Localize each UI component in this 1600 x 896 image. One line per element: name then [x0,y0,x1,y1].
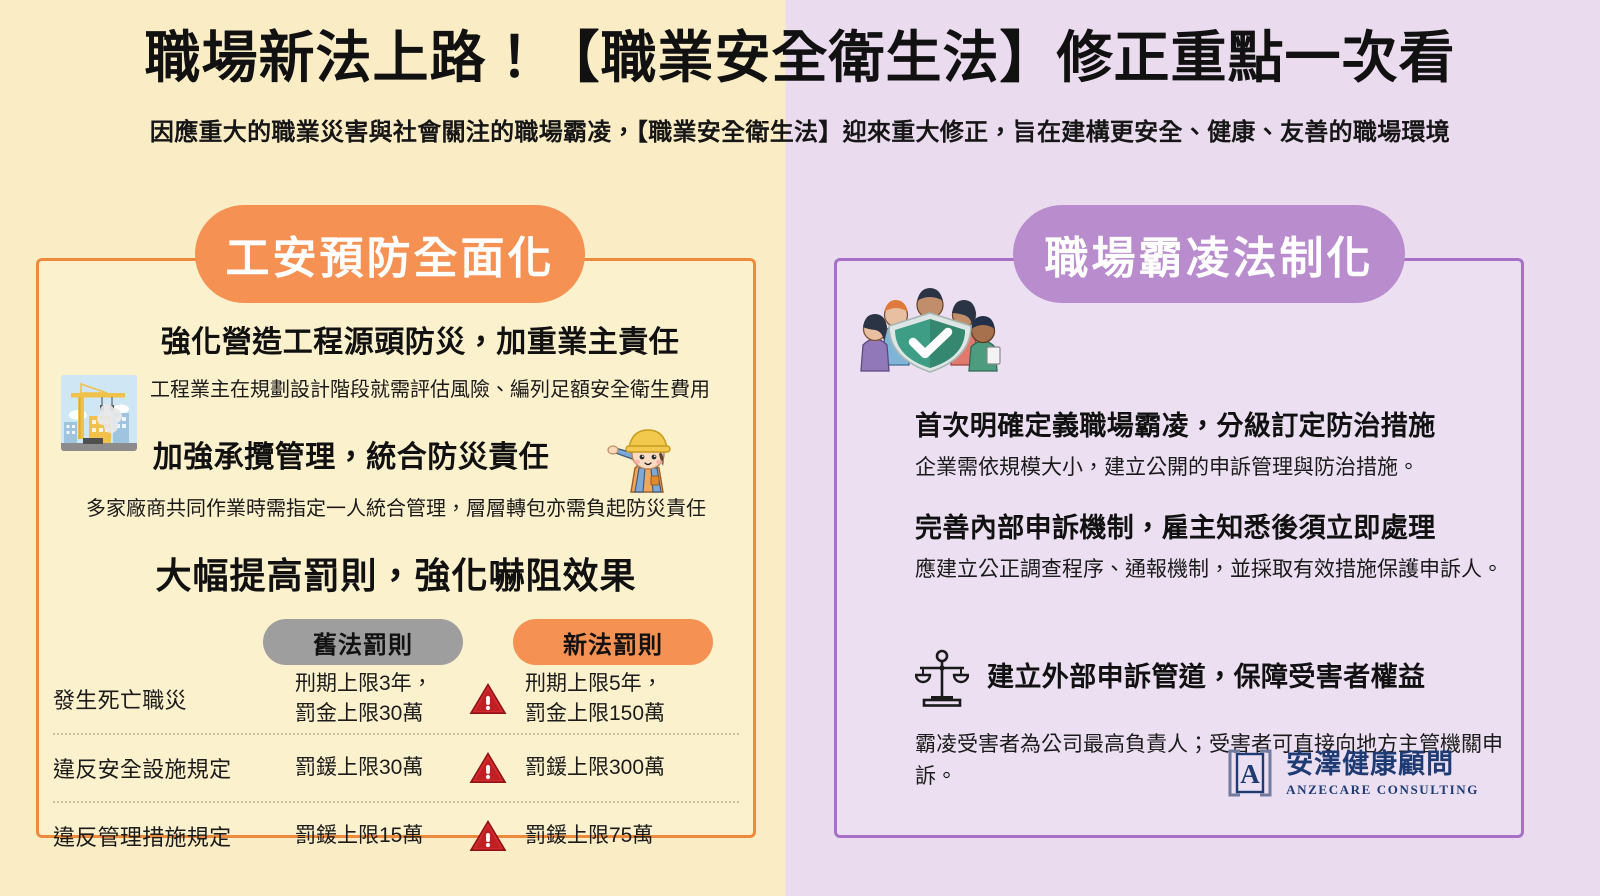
right-block-definition: 首次明確定義職場霸凌，分級訂定防治措施 企業需依規模大小，建立公開的申訴管理與防… [915,409,1515,484]
brand-logo: A 安澤健康顧問 ANZECARE CONSULTING [1224,747,1479,799]
warning-triangle-icon [463,818,513,854]
infographic-poster: 職場新法上路！【職業安全衛生法】修正重點一次看 因應重大的職業災害與社會關注的職… [0,0,1600,896]
penalty-row-1-category: 發生死亡職災 [53,683,263,715]
penalty-row-1-new-line2: 罰金上限150萬 [525,699,733,729]
poster-header: 職場新法上路！【職業安全衛生法】修正重點一次看 因應重大的職業災害與社會關注的職… [0,0,1600,147]
table-row: 違反管理措施規定 罰鍰上限15萬 罰鍰上限75萬 [53,801,739,869]
left-block-contract-management: 加強承攬管理，統合防災責任 多家廠商共同作業時需指定一人統合管理，層層轉包亦需負… [39,432,753,521]
penalty-row-3-old: 罰鍰上限15萬 [263,821,463,851]
logo-name-cn: 安澤健康顧問 [1286,751,1479,778]
right-block-3-heading: 建立外部申訴管道，保障受害者權益 [987,660,1425,695]
left-block-1-description: 工程業主在規劃設計階段就需評估風險、編列足額安全衛生費用 [49,373,741,402]
right-block-1-description: 企業需依規模大小，建立公開的申訴管理與防治措施。 [915,452,1515,484]
right-block-1-heading: 首次明確定義職場霸凌，分級訂定防治措施 [915,409,1515,444]
right-panel-content: 首次明確定義職場霸凌，分級訂定防治措施 企業需依規模大小，建立公開的申訴管理與防… [837,261,1521,835]
left-panel-workplace-safety: 工安預防全面化 [36,258,756,838]
page-title: 職場新法上路！【職業安全衛生法】修正重點一次看 [0,26,1600,90]
logo-name-en: ANZECARE CONSULTING [1286,783,1479,796]
table-row: 違反安全設施規定 罰鍰上限30萬 罰鍰上限300萬 [53,733,739,801]
penalty-row-3-category: 違反管理措施規定 [53,820,263,852]
right-block-2-description: 應建立公正調查程序、通報機制，並採取有效措施保護申訴人。 [915,554,1515,586]
penalty-header-new-law: 新法罰則 [513,619,713,665]
logo-text-block: 安澤健康顧問 ANZECARE CONSULTING [1286,751,1479,796]
right-block-2-heading: 完善內部申訴機制，雇主知悉後須立即處理 [915,511,1515,546]
penalty-row-1-old-line2: 罰金上限30萬 [295,699,463,729]
penalty-row-2-old: 罰鍰上限30萬 [263,753,463,783]
right-block-internal-complaint: 完善內部申訴機制，雇主知悉後須立即處理 應建立公正調查程序、通報機制，並採取有效… [915,511,1515,586]
left-block-source-prevention: 強化營造工程源頭防災，加重業主責任 工程業主在規劃設計階段就需評估風險、編列足額… [39,317,753,402]
right-panel-workplace-bullying: 職場霸凌法制化 [834,258,1524,838]
left-panel-content: 強化營造工程源頭防災，加重業主責任 工程業主在規劃設計階段就需評估風險、編列足額… [39,261,753,835]
left-block-1-heading: 強化營造工程源頭防災，加重業主責任 [49,317,741,361]
penalty-row-1-new: 刑期上限5年， 罰金上限150萬 [513,669,733,730]
penalty-table-heading: 大幅提高罰則，強化嚇阻效果 [39,547,753,599]
penalty-row-1-old-line1: 刑期上限3年， [295,669,463,699]
penalty-row-2-category: 違反安全設施規定 [53,752,263,784]
penalty-header-old-law: 舊法罰則 [263,619,463,665]
scales-of-justice-icon [915,649,969,707]
construction-worker-icon [601,418,693,494]
penalty-row-2-new: 罰鍰上限300萬 [513,753,733,783]
table-row: 發生死亡職災 刑期上限3年， 罰金上限30萬 [53,665,739,733]
left-block-2-description: 多家廠商共同作業時需指定一人統合管理，層層轉包亦需負起防災責任 [49,492,743,521]
svg-text:A: A [1240,759,1260,789]
right-block-3-heading-row: 建立外部申訴管道，保障受害者權益 [915,649,1515,707]
people-shield-icon [855,269,1005,373]
penalty-table-header-row: 舊法罰則 新法罰則 [53,619,739,665]
page-subtitle: 因應重大的職業災害與社會關注的職場霸凌，【職業安全衛生法】迎來重大修正，旨在建構… [0,112,1600,147]
penalty-row-1-new-line1: 刑期上限5年， [525,669,733,699]
anzecare-logo-icon: A [1224,747,1276,799]
penalty-row-1-old: 刑期上限3年， 罰金上限30萬 [263,669,463,730]
penalty-row-3-new: 罰鍰上限75萬 [513,821,733,851]
warning-triangle-icon [463,681,513,717]
warning-triangle-icon [463,750,513,786]
penalty-comparison-table: 舊法罰則 新法罰則 發生死亡職災 刑期上限3年， 罰金上限30萬 [39,619,753,869]
